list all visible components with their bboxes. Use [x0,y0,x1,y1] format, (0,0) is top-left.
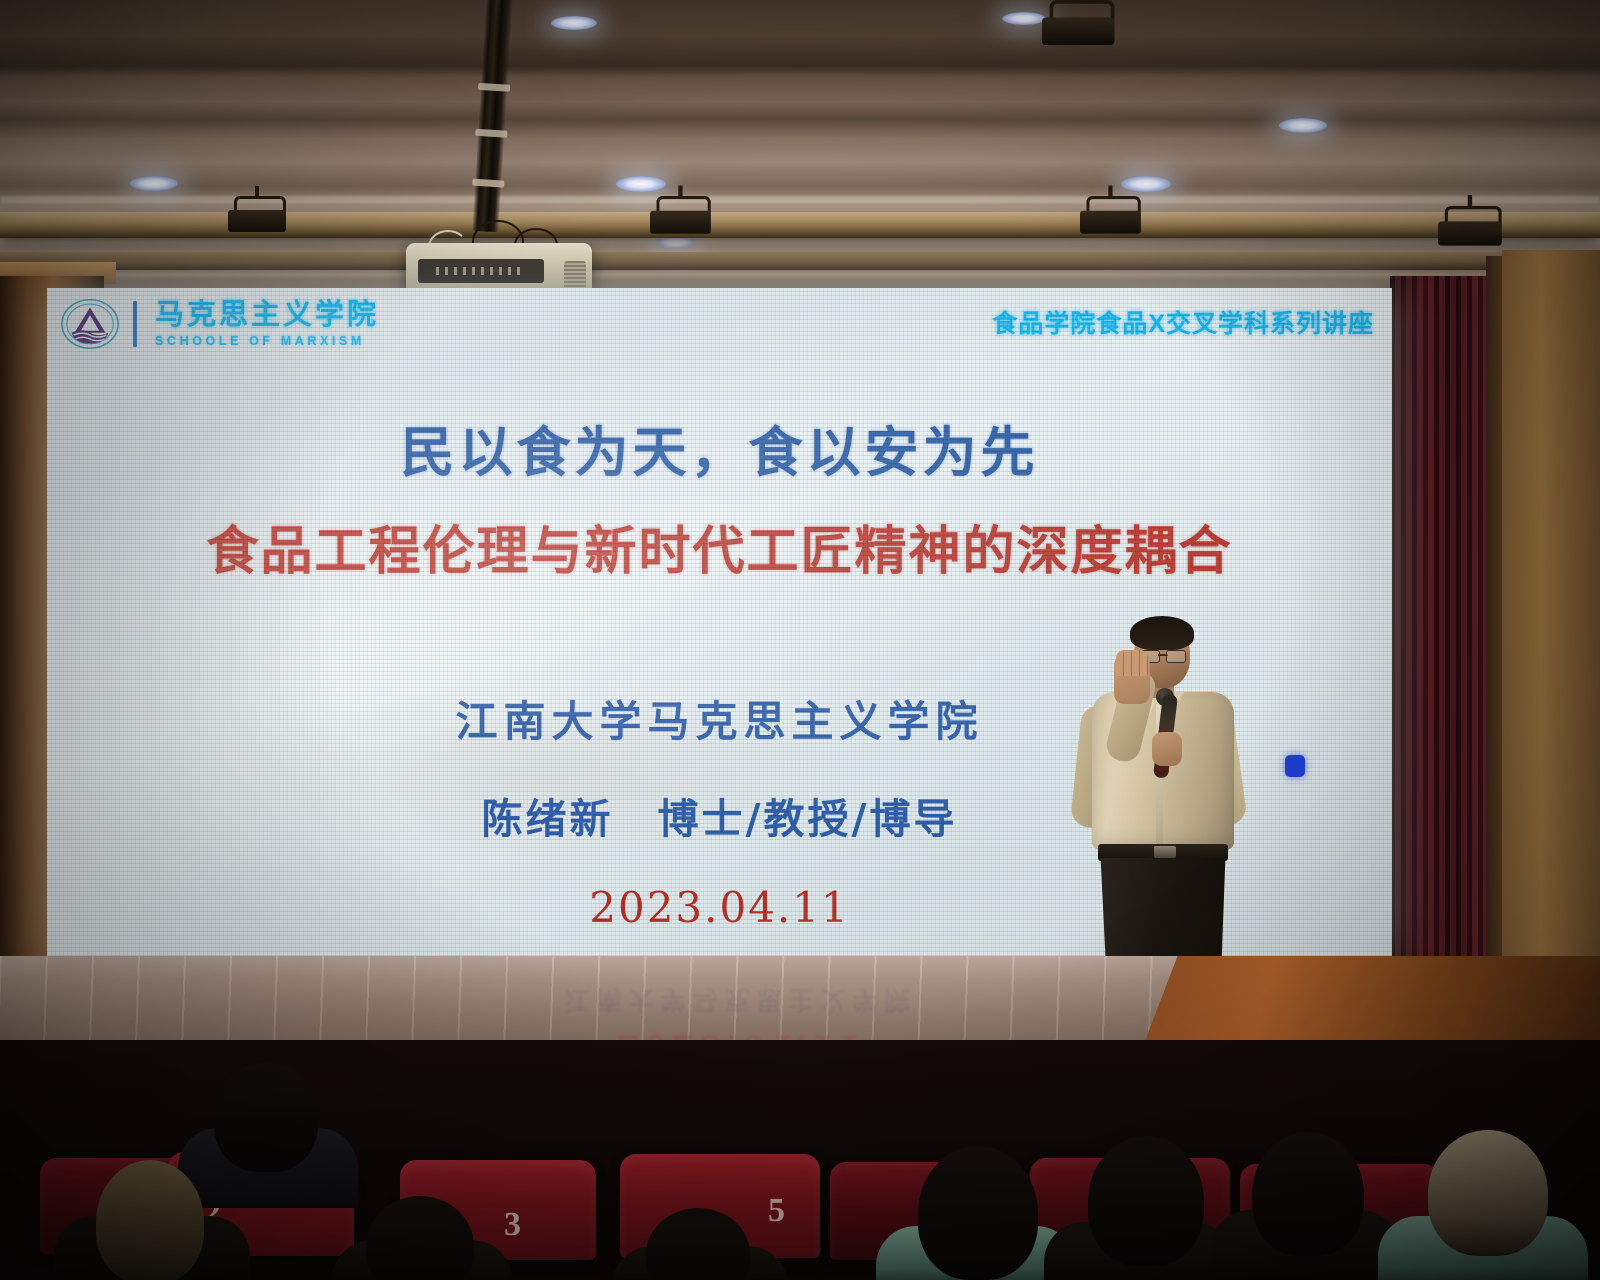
logo-english-name: SCHOOLE OF MARXISM [155,334,379,348]
lecture-hall-photo: 马克思主义学院 SCHOOLE OF MARXISM 食品学院食品X交叉学科系列… [0,0,1600,1280]
ceiling-downlight [616,176,666,192]
logo-chinese-name: 马克思主义学院 [155,300,379,331]
institution-logo: 马克思主义学院 SCHOOLE OF MARXISM [59,293,379,355]
audience-head [1252,1132,1364,1256]
presenter-belt-buckle [1154,846,1176,858]
jiangnan-university-emblem-icon [59,293,121,355]
pointer-dot-icon[interactable] [1285,755,1305,777]
ceiling-downlight [551,16,597,30]
ceiling-downlight [1121,176,1171,192]
audience-head [96,1160,204,1280]
ceiling-downlight [1279,118,1327,133]
presenter-hair [1130,616,1194,650]
ceiling-downlight [1002,12,1046,25]
ceiling-downlight [130,176,178,191]
presenter-hand-holding-mic [1152,732,1182,766]
audience-head [1428,1130,1548,1256]
seat-number: 3 [504,1206,521,1244]
right-wall [1502,250,1600,1040]
audience-head [918,1146,1038,1280]
auditorium-seating: 2 3 5 [0,1040,1600,1280]
presenter-fingers [1116,650,1148,676]
audience-head [214,1062,318,1172]
ceiling-truss-beam-secondary [0,252,1600,270]
slide-header: 马克思主义学院 SCHOOLE OF MARXISM 食品学院食品X交叉学科系列… [47,288,1392,358]
lecture-series-label: 食品学院食品X交叉学科系列讲座 [992,304,1374,340]
floor-reflection-org: 江南大学马克思主义学院 [420,983,1060,1020]
seat-number: 5 [768,1192,785,1230]
projector-controls [436,267,522,275]
ceiling-light-band [0,238,1600,244]
slide-title-main: 民以食为天，食以安为先 [47,408,1392,487]
audience-head [1088,1136,1204,1266]
logo-divider [133,301,137,347]
slide-title-sub: 食品工程伦理与新时代工匠精神的深度耦合 [47,509,1392,584]
ceiling-light-band [0,272,1600,277]
